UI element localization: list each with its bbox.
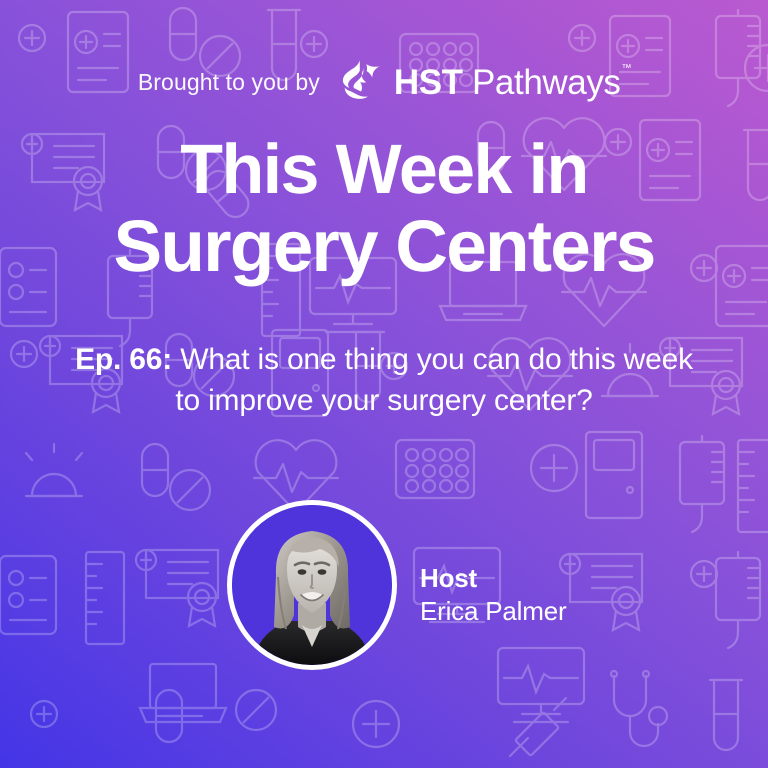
logo-word-pathways: Pathways bbox=[463, 63, 621, 102]
podcast-cover-art: Brought to you by HST Pathways™ This Wee… bbox=[0, 0, 768, 768]
show-title-line-2: Surgery Centers bbox=[0, 208, 768, 287]
show-title: This Week in Surgery Centers bbox=[0, 132, 768, 286]
sponsor-prefix-text: Brought to you by bbox=[138, 69, 320, 96]
logo-word-hst: HST bbox=[394, 63, 463, 102]
host-info: Host Erica Palmer bbox=[420, 562, 566, 627]
show-title-line-1: This Week in bbox=[0, 132, 768, 208]
host-name: Erica Palmer bbox=[420, 595, 566, 628]
hst-pathways-wordmark: HST Pathways™ bbox=[394, 65, 630, 100]
host-label: Host bbox=[420, 562, 566, 595]
trademark-symbol: ™ bbox=[622, 63, 632, 74]
hst-swoosh-bird-logo-icon bbox=[336, 58, 384, 107]
sponsor-lockup: Brought to you by HST Pathways™ bbox=[0, 58, 768, 107]
avatar bbox=[227, 500, 397, 670]
hst-pathways-logo: HST Pathways™ bbox=[336, 58, 630, 107]
episode-title: What is one thing you can do this week t… bbox=[172, 343, 693, 417]
episode-headline: Ep. 66: What is one thing you can do thi… bbox=[64, 340, 704, 422]
episode-number: Ep. 66: bbox=[75, 343, 172, 376]
